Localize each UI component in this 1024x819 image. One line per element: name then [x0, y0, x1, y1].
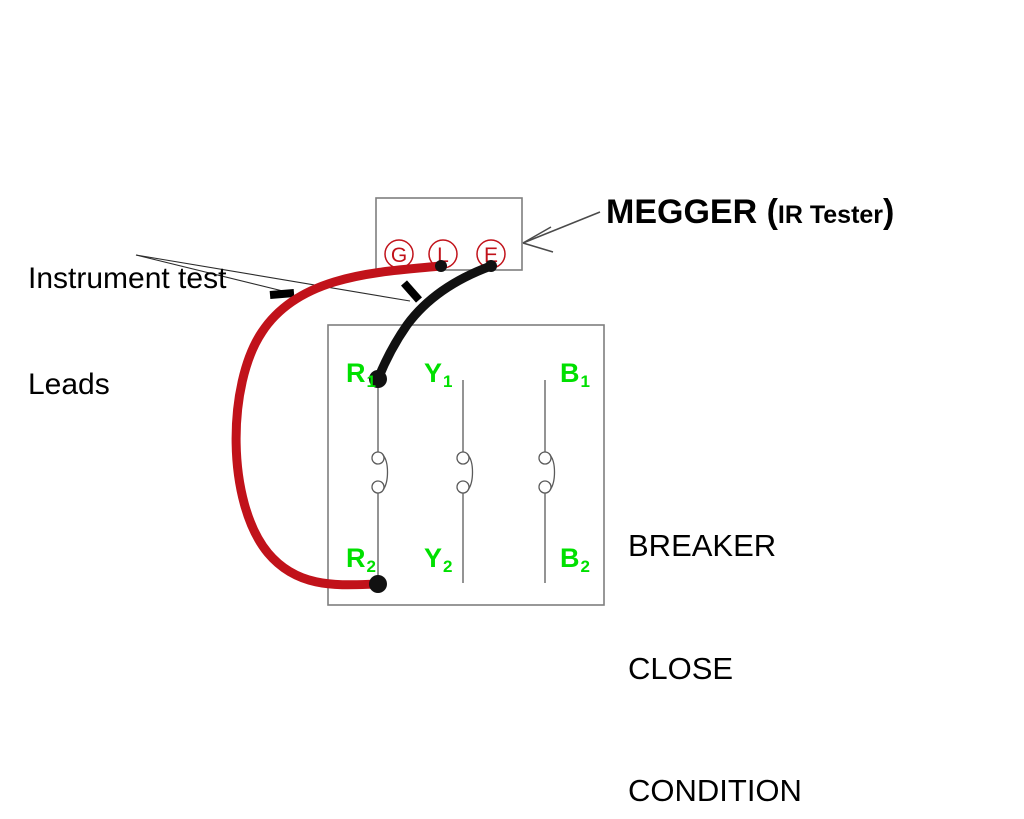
- dot-terminal-e: [485, 260, 497, 272]
- pole-label-y2-letter: Y: [424, 543, 442, 573]
- pole-label-y2-sub: 2: [443, 557, 452, 576]
- dot-pole-r2: [369, 575, 387, 593]
- breaker-note-line2: CLOSE: [628, 649, 853, 690]
- pole-label-b1-sub: 1: [581, 372, 590, 391]
- pole-y-contact-top: [457, 452, 469, 464]
- pole-label-r2-letter: R: [346, 543, 366, 573]
- pole-label-y2: Y2: [424, 543, 451, 574]
- pole-label-y1-sub: 1: [443, 372, 452, 391]
- instrument-leads-line1: Instrument test: [28, 261, 226, 296]
- instrument-leads-line2: Leads: [28, 367, 226, 402]
- diagram-canvas: G L E: [0, 0, 1024, 819]
- arrowhead-black-lead-icon: [404, 283, 419, 300]
- pole-label-b1-letter: B: [560, 358, 580, 388]
- dot-terminal-l: [435, 260, 447, 272]
- megger-title: MEGGER (IR Tester): [606, 192, 894, 232]
- pole-b-contact-top: [539, 452, 551, 464]
- megger-arrow-head-icon: [523, 227, 553, 252]
- breaker-note-line1: BREAKER: [628, 526, 853, 567]
- pole-label-b1: B1: [560, 358, 589, 389]
- arrowhead-red-lead-icon: [270, 293, 294, 295]
- pole-y-contact-bottom: [457, 481, 469, 493]
- pole-label-y1: Y1: [424, 358, 451, 389]
- megger-pointer-arrow: [523, 212, 600, 252]
- pole-b-contact-bottom: [539, 481, 551, 493]
- pole-r-contact-bottom: [372, 481, 384, 493]
- pole-label-r1: R1: [346, 358, 375, 389]
- megger-title-sub: IR Tester: [778, 201, 883, 229]
- breaker-note-line3: CONDITION: [628, 771, 853, 812]
- instrument-leads-label: Instrument test Leads: [28, 190, 226, 473]
- megger-title-main: MEGGER (: [606, 193, 778, 231]
- megger-instrument: G L E: [376, 198, 522, 270]
- pole-label-b2-sub: 2: [581, 557, 590, 576]
- terminal-g-label: G: [391, 244, 407, 267]
- megger-arrow-shaft: [523, 212, 600, 243]
- megger-title-close: ): [883, 193, 894, 231]
- pole-label-b2: B2: [560, 543, 589, 574]
- pole-r-contact-top: [372, 452, 384, 464]
- pole-label-y1-letter: Y: [424, 358, 442, 388]
- pole-label-r1-sub: 1: [367, 372, 376, 391]
- pole-label-r2: R2: [346, 543, 375, 574]
- pole-label-b2-letter: B: [560, 543, 580, 573]
- breaker-condition-note: BREAKER CLOSE CONDITION POLE TO POLE: [628, 444, 853, 819]
- pole-label-r1-letter: R: [346, 358, 366, 388]
- pole-label-r2-sub: 2: [367, 557, 376, 576]
